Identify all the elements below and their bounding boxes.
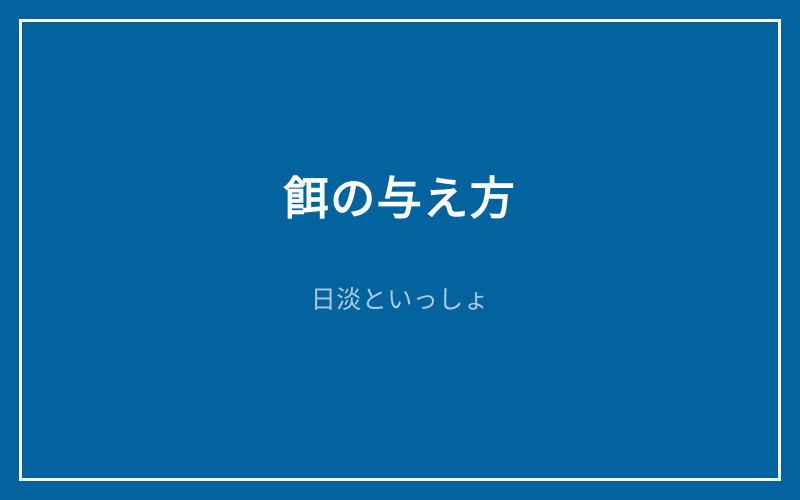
card-content: 餌の与え方 日淡といっしょ bbox=[0, 0, 800, 500]
card-title: 餌の与え方 bbox=[0, 168, 800, 230]
card-subtitle: 日淡といっしょ bbox=[0, 283, 800, 317]
title-card: 餌の与え方 日淡といっしょ bbox=[0, 0, 800, 500]
